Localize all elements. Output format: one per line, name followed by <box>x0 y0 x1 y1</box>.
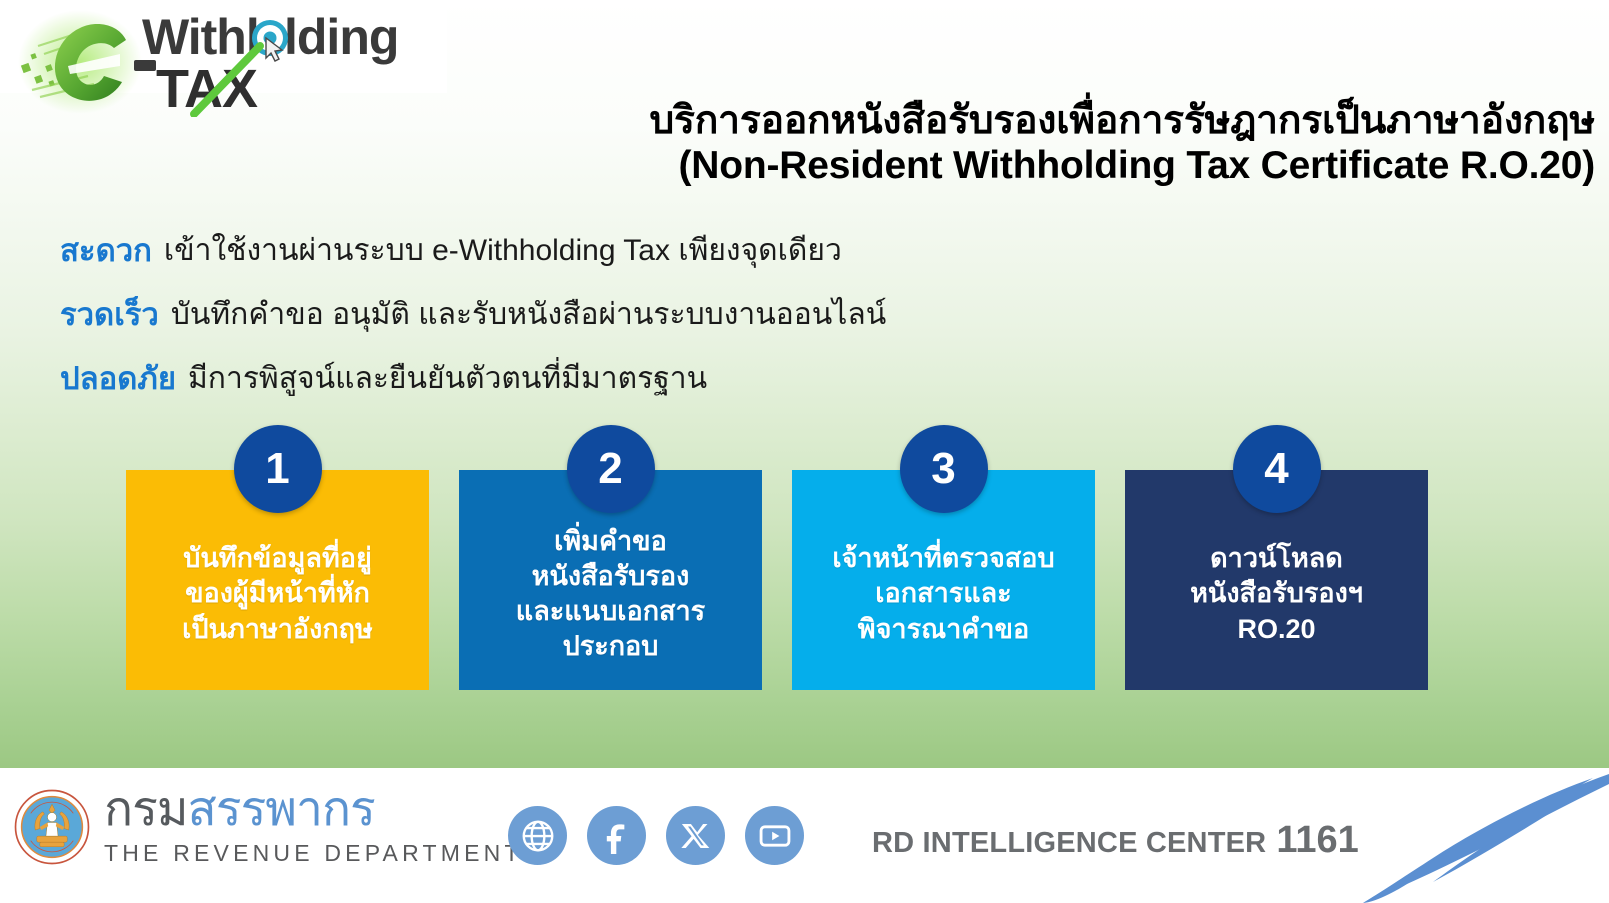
revenue-department-emblem <box>14 789 90 865</box>
step-label-3: เจ้าหน้าที่ตรวจสอบ เอกสารและ พิจารณาคำขอ <box>832 541 1054 646</box>
process-steps: บันทึกข้อมูลที่อยู่ ของผู้มีหน้าที่หัก เ… <box>126 425 1430 690</box>
benefit-text: มีการพิสูจน์และยืนยันตัวตนที่มีมาตรฐาน <box>188 355 707 402</box>
benefit-item-1: สะดวก เข้าใช้งานผ่านระบบ e-Withholding T… <box>60 218 1160 282</box>
call-center-number: 1161 <box>1276 819 1358 862</box>
org-name-thai: กรมสรรพากร <box>104 786 523 834</box>
benefit-text: บันทึกคำขอ อนุมัติ และรับหนังสือผ่านระบบ… <box>171 291 886 338</box>
facebook-icon[interactable] <box>587 806 646 865</box>
revenue-department-logo: กรมสรรพากร THE REVENUE DEPARTMENT <box>14 786 523 867</box>
x-twitter-icon[interactable] <box>666 806 725 865</box>
social-links <box>508 806 804 865</box>
org-name-thai-dark: กรม <box>104 783 187 836</box>
step-number-badge-4: 4 <box>1233 425 1321 513</box>
benefit-keyword: รวดเร็ว <box>60 289 159 339</box>
benefit-text: เข้าใช้งานผ่านระบบ e-Withholding Tax เพี… <box>164 227 842 274</box>
step-number-badge-1: 1 <box>234 425 322 513</box>
benefit-keyword: ปลอดภัย <box>60 353 176 403</box>
step-number-badge-3: 3 <box>900 425 988 513</box>
youtube-icon[interactable] <box>745 806 804 865</box>
benefit-item-3: ปลอดภัย มีการพิสูจน์และยืนยันตัวตนที่มีม… <box>60 346 1160 410</box>
process-step-1: บันทึกข้อมูลที่อยู่ ของผู้มีหน้าที่หัก เ… <box>126 470 429 690</box>
benefit-keyword: สะดวก <box>60 225 152 275</box>
svg-text:lding: lding <box>284 9 398 65</box>
step-label-2: เพิ่มคำขอ หนังสือรับรอง และแนบเอกสาร ประ… <box>516 524 705 664</box>
process-step-2: เพิ่มคำขอ หนังสือรับรอง และแนบเอกสาร ประ… <box>459 470 762 690</box>
step-label-4: ดาวน์โหลด หนังสือรับรองฯ RO.20 <box>1190 541 1363 646</box>
process-step-3: เจ้าหน้าที่ตรวจสอบ เอกสารและ พิจารณาคำขอ… <box>792 470 1095 690</box>
benefits-list: สะดวก เข้าใช้งานผ่านระบบ e-Withholding T… <box>60 218 1160 410</box>
step-number-badge-2: 2 <box>567 425 655 513</box>
org-name-english: THE REVENUE DEPARTMENT <box>104 840 523 867</box>
rd-intelligence-center: RD INTELLIGENCE CENTER 1161 <box>872 819 1359 862</box>
title-english: (Non-Resident Withholding Tax Certificat… <box>380 143 1595 188</box>
e-withholding-tax-logo: Withh lding TAX <box>8 2 448 117</box>
infographic-poster: Withh lding TAX บริการออกหนังสือรับรองเพ… <box>0 0 1609 903</box>
footer: กรมสรรพากร THE REVENUE DEPARTMENT <box>0 768 1609 903</box>
org-name-thai-blue: สรรพากร <box>187 783 374 836</box>
website-icon[interactable] <box>508 806 567 865</box>
benefit-item-2: รวดเร็ว บันทึกคำขอ อนุมัติ และรับหนังสือ… <box>60 282 1160 346</box>
process-step-4: ดาวน์โหลด หนังสือรับรองฯ RO.20 4 <box>1125 470 1428 690</box>
title-thai: บริการออกหนังสือรับรองเพื่อการรัษฎากรเป็… <box>380 98 1595 143</box>
step-label-1: บันทึกข้อมูลที่อยู่ ของผู้มีหน้าที่หัก เ… <box>182 541 373 646</box>
call-center-label: RD INTELLIGENCE CENTER <box>872 827 1266 860</box>
page-title: บริการออกหนังสือรับรองเพื่อการรัษฎากรเป็… <box>380 98 1595 188</box>
revenue-department-names: กรมสรรพากร THE REVENUE DEPARTMENT <box>104 786 523 867</box>
